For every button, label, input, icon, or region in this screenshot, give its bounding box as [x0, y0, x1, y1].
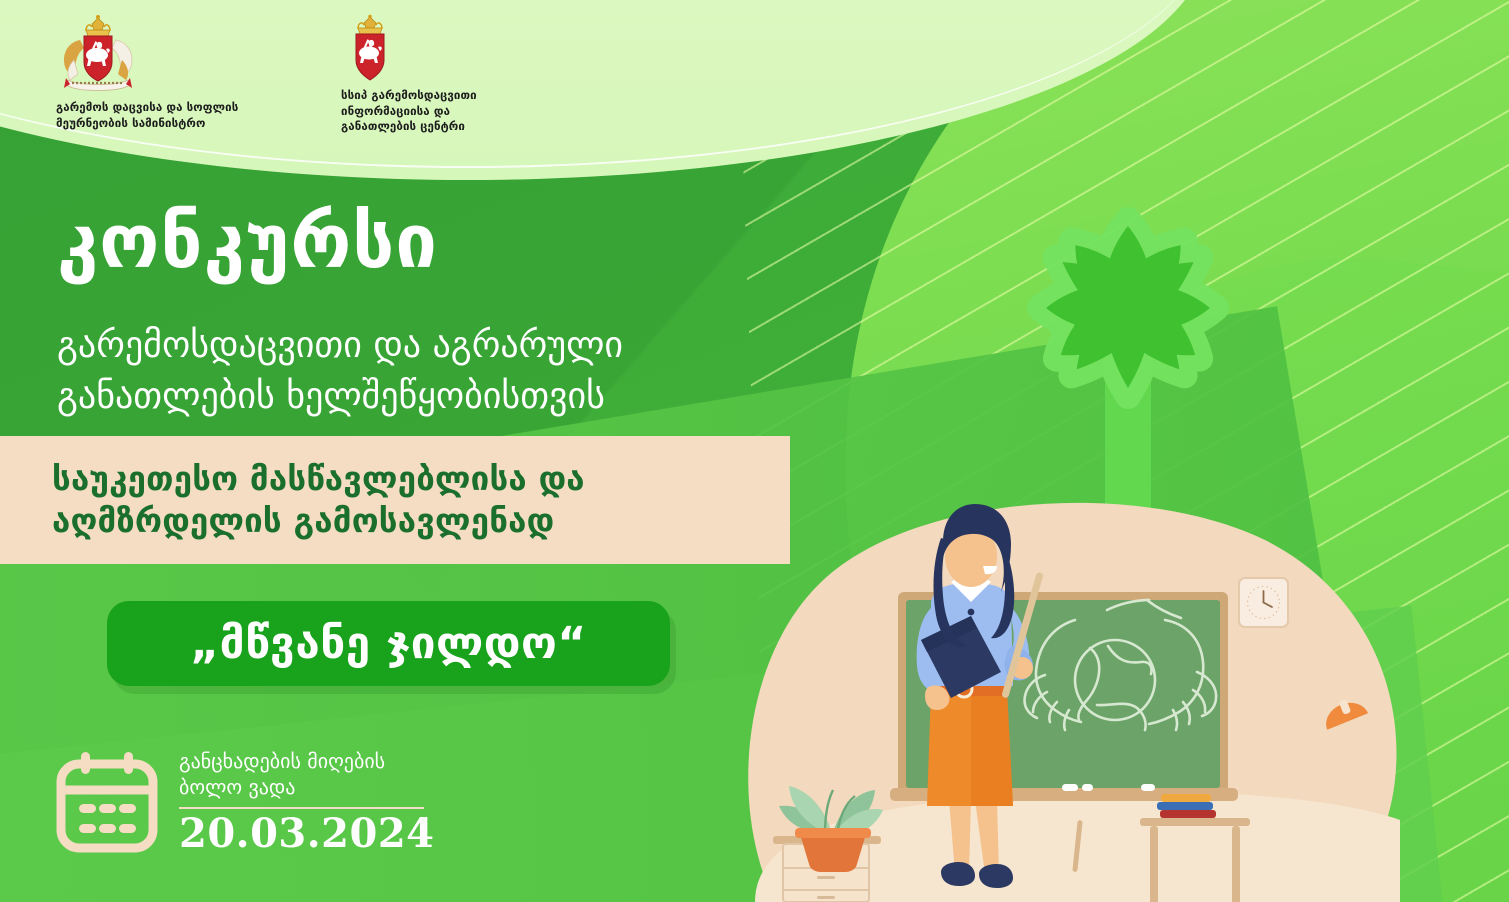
deadline-date: 20.03.2024	[179, 813, 435, 855]
logo-center-caption-line-1: სსიპ გარემოსდაცვითი	[341, 88, 477, 104]
logo-ministry-caption-line-2: მეურნეობის სამინისტრო	[56, 116, 238, 132]
wall-clock	[1239, 578, 1288, 627]
page-subtitle-line-2: განათლების ხელშეწყობისთვის	[57, 371, 817, 422]
highlight-banner: საუკეთესო მასწავლებლისა და აღმზრდელის გა…	[0, 436, 790, 564]
page-subtitle: გარემოსდაცვითი და აგრარული განათლების ხე…	[57, 320, 817, 422]
header-logos: გარემოს დაცვისა და სოფლის მეურნეობის სამ…	[0, 0, 640, 150]
logo-center: სსიპ გარემოსდაცვითი ინფორმაციისა და განა…	[341, 14, 571, 135]
deadline-label-line-1: განცხადების მიღების	[179, 748, 429, 774]
award-badge: „მწვანე ჯილდო“	[107, 601, 670, 686]
logo-ministry-caption-line-1: გარემოს დაცვისა და სოფლის	[56, 100, 238, 116]
deadline-divider	[179, 807, 424, 809]
highlight-banner-line-1: საუკეთესო მასწავლებლისა და	[52, 458, 774, 500]
logo-ministry-caption: გარემოს დაცვისა და სოფლის მეურნეობის სამ…	[56, 100, 238, 131]
logo-center-caption: სსიპ გარემოსდაცვითი ინფორმაციისა და განა…	[341, 88, 477, 135]
calendar-icon	[55, 750, 159, 854]
deadline-text-block: განცხადების მიღების ბოლო ვადა 20.03.2024	[179, 748, 435, 855]
georgia-coat-of-arms-icon	[56, 14, 140, 94]
page-title: კონკურსი	[57, 205, 438, 279]
georgia-small-coat-of-arms-icon	[341, 14, 399, 84]
logo-center-caption-line-2: ინფორმაციისა და	[341, 104, 477, 120]
award-badge-label: „მწვანე ჯილდო“	[190, 622, 586, 666]
logo-ministry: გარემოს დაცვისა და სოფლის მეურნეობის სამ…	[56, 14, 306, 131]
deadline-label-line-2: ბოლო ვადა	[179, 774, 429, 800]
poster-canvas: გარემოს დაცვისა და სოფლის მეურნეობის სამ…	[0, 0, 1509, 902]
deadline-label: განცხადების მიღების ბოლო ვადა	[179, 748, 429, 800]
logo-center-caption-line-3: განათლების ცენტრი	[341, 119, 477, 135]
highlight-banner-line-2: აღმზრდელის გამოსავლენად	[52, 500, 774, 542]
deadline-block: განცხადების მიღების ბოლო ვადა 20.03.2024	[55, 748, 435, 855]
page-subtitle-line-1: გარემოსდაცვითი და აგრარული	[57, 320, 817, 371]
classroom-teacher-illustration	[745, 500, 1405, 902]
